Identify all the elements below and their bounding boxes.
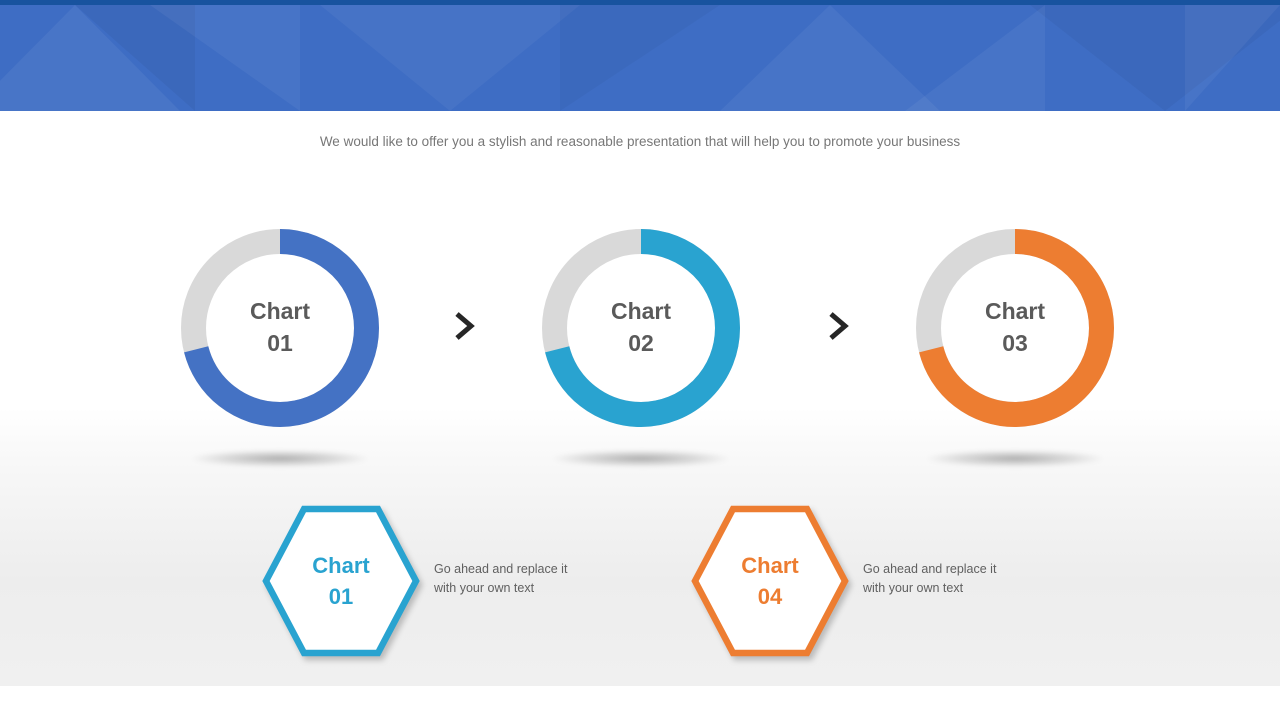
header-banner (0, 5, 1280, 111)
hexagon-label-04: Chart 04 (691, 505, 849, 657)
subtitle-text: We would like to offer you a stylish and… (0, 134, 1280, 149)
hexagon-item-chart-04[interactable]: Chart 04 Go ahead and replace it with yo… (691, 505, 996, 657)
donut-shadow (926, 450, 1104, 467)
donut-chart-02[interactable]: Chart 02 (541, 228, 741, 428)
donut-chart-03[interactable]: Chart 03 (915, 228, 1115, 428)
chevron-right-icon (444, 306, 484, 346)
hexagon-shape-orange: Chart 04 (691, 505, 849, 657)
hexagon-label-01: Chart 01 (262, 505, 420, 657)
hexagon-body-text-01: Go ahead and replace it with your own te… (434, 560, 567, 603)
donut-chart-row: Chart 01 Chart 02 Chart 03 (0, 212, 1280, 452)
hexagon-label-line2: 04 (758, 581, 782, 612)
donut-label-01: Chart 01 (180, 228, 380, 428)
header-top-rule (0, 0, 1280, 5)
donut-label-line2: 03 (1002, 328, 1028, 360)
donut-label-line2: 02 (628, 328, 654, 360)
donut-chart-01[interactable]: Chart 01 (180, 228, 380, 428)
donut-label-line1: Chart (250, 296, 310, 328)
donut-shadow (191, 450, 369, 467)
hexagon-label-line2: 01 (329, 581, 353, 612)
hexagon-shape-cyan: Chart 01 (262, 505, 420, 657)
donut-label-line1: Chart (985, 296, 1045, 328)
chevron-right-icon (818, 306, 858, 346)
donut-label-03: Chart 03 (915, 228, 1115, 428)
donut-label-02: Chart 02 (541, 228, 741, 428)
donut-label-line1: Chart (611, 296, 671, 328)
hexagon-row: Chart 01 Go ahead and replace it with yo… (0, 505, 1280, 670)
hexagon-item-chart-01[interactable]: Chart 01 Go ahead and replace it with yo… (262, 505, 567, 657)
banner-facet-pattern (0, 5, 1280, 111)
slide-canvas: Simple Donut Chart Process (Blue Green) … (0, 0, 1280, 720)
donut-shadow (552, 450, 730, 467)
hexagon-label-line1: Chart (741, 550, 798, 581)
hexagon-body-text-04: Go ahead and replace it with your own te… (863, 560, 996, 603)
hexagon-label-line1: Chart (312, 550, 369, 581)
donut-label-line2: 01 (267, 328, 293, 360)
